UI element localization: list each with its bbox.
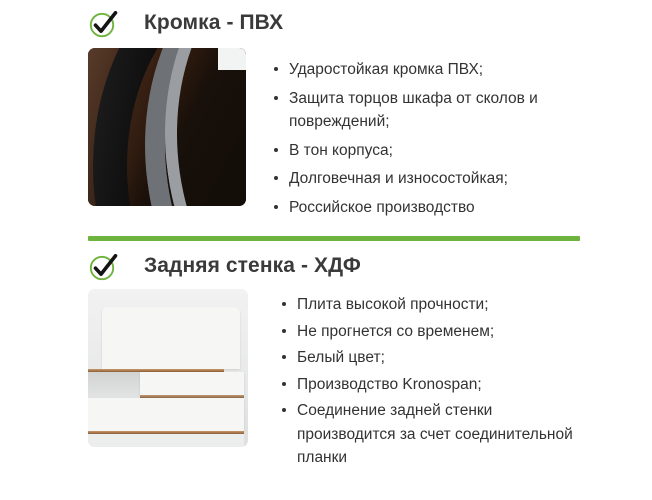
section-body: Ударостойкая кромка ПВХ; Защита торцов ш… — [0, 46, 652, 224]
section-header: Кромка - ПВХ — [0, 0, 652, 46]
section-divider — [88, 236, 580, 241]
hdf-board-base — [88, 434, 244, 447]
features-page: Кромка - ПВХ Ударостойкая кромка ПВХ; За… — [0, 0, 652, 500]
board-shadow — [88, 369, 142, 399]
list-item: В тон корпуса; — [272, 139, 571, 163]
check-circle-icon — [88, 251, 120, 283]
check-circle-icon — [88, 8, 120, 40]
section-back-panel: Задняя стенка - ХДФ Плита высокой прочно… — [0, 243, 652, 473]
list-item: Производство Kronospan; — [280, 373, 579, 397]
pvc-edge-banding-image — [88, 48, 246, 206]
section-edge-banding: Кромка - ПВХ Ударостойкая кромка ПВХ; За… — [0, 0, 652, 224]
feature-list-edge-banding: Ударостойкая кромка ПВХ; Защита торцов ш… — [272, 58, 652, 224]
section-body: Плита высокой прочности; Не прогнется со… — [0, 289, 652, 473]
hdf-boards-image — [88, 289, 248, 447]
list-item: Белый цвет; — [280, 346, 579, 370]
hdf-board-top — [102, 307, 240, 369]
hdf-board-bottom — [88, 398, 244, 431]
hdf-board-middle — [140, 372, 244, 395]
list-item: Ударостойкая кромка ПВХ; — [272, 58, 571, 82]
page-title: Задняя стенка - ХДФ — [88, 254, 361, 278]
edge-band-white — [218, 48, 246, 70]
list-item: Плита высокой прочности; — [280, 293, 579, 317]
list-item: Защита торцов шкафа от сколов и поврежде… — [272, 87, 571, 134]
list-item: Российское производство — [272, 196, 571, 220]
list-item: Долговечная и износостойкая; — [272, 167, 571, 191]
list-item: Соединение задней стенки производится за… — [280, 399, 579, 470]
section-header: Задняя стенка - ХДФ — [0, 243, 652, 289]
feature-list-back-panel: Плита высокой прочности; Не прогнется со… — [280, 293, 652, 473]
list-item: Не прогнется со временем; — [280, 320, 579, 344]
